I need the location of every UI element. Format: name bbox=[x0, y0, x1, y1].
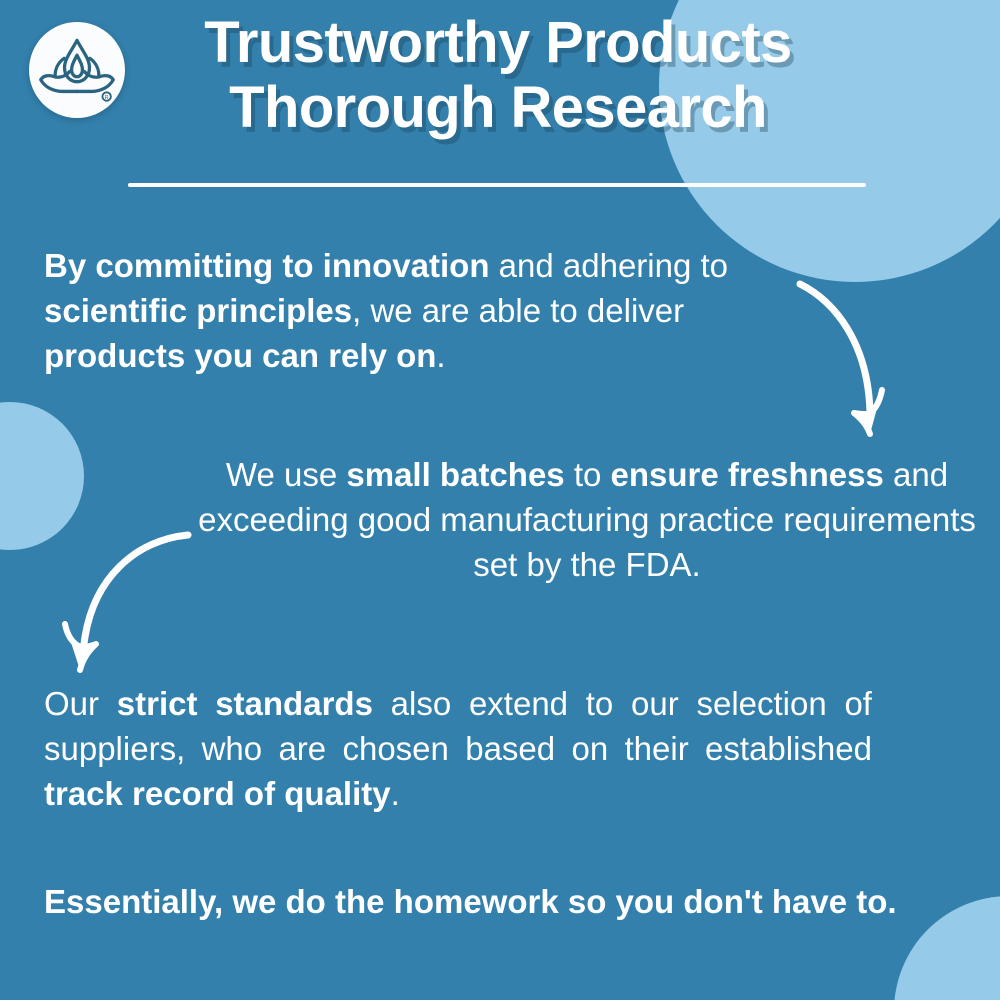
body-text: Our bbox=[44, 685, 117, 722]
emphasis-text: small batches bbox=[346, 456, 564, 493]
svg-text:R: R bbox=[105, 95, 109, 101]
body-text: We use bbox=[226, 456, 346, 493]
body-text: and adhering to bbox=[489, 247, 728, 284]
curved-arrow-down-left-icon bbox=[58, 500, 194, 686]
body-text: . bbox=[436, 337, 445, 374]
paragraph-supplier-standards: Our strict standards also extend to our … bbox=[44, 681, 872, 817]
emphasis-text: strict standards bbox=[117, 685, 373, 722]
circle-left-decoration bbox=[0, 402, 84, 550]
poster-header: R Trustworthy Products Thorough Research bbox=[0, 0, 1000, 205]
lotus-flame-logo-icon: R bbox=[38, 31, 116, 109]
title-underline-divider bbox=[128, 183, 866, 187]
emphasis-text: By committing to innovation bbox=[44, 247, 489, 284]
page-title: Trustworthy Products Thorough Research bbox=[128, 14, 868, 137]
brand-logo: R bbox=[29, 22, 125, 118]
title-line-2: Thorough Research bbox=[128, 79, 868, 136]
emphasis-text: track record of quality bbox=[44, 775, 391, 812]
body-text: to bbox=[565, 456, 611, 493]
paragraph-small-batches: We use small batches to ensure freshness… bbox=[196, 452, 978, 588]
emphasis-text: Essentially, we do the homework so you d… bbox=[44, 883, 897, 920]
paragraph-commitment: By committing to innovation and adhering… bbox=[44, 243, 814, 379]
emphasis-text: ensure freshness bbox=[611, 456, 884, 493]
promotional-poster: R Trustworthy Products Thorough Research… bbox=[0, 0, 1000, 1000]
title-line-1: Trustworthy Products bbox=[128, 14, 868, 71]
paragraph-closing-statement: Essentially, we do the homework so you d… bbox=[44, 879, 964, 924]
emphasis-text: products you can rely on bbox=[44, 337, 436, 374]
emphasis-text: scientific principles bbox=[44, 292, 352, 329]
body-text: , we are able to deliver bbox=[352, 292, 684, 329]
body-text: . bbox=[391, 775, 400, 812]
